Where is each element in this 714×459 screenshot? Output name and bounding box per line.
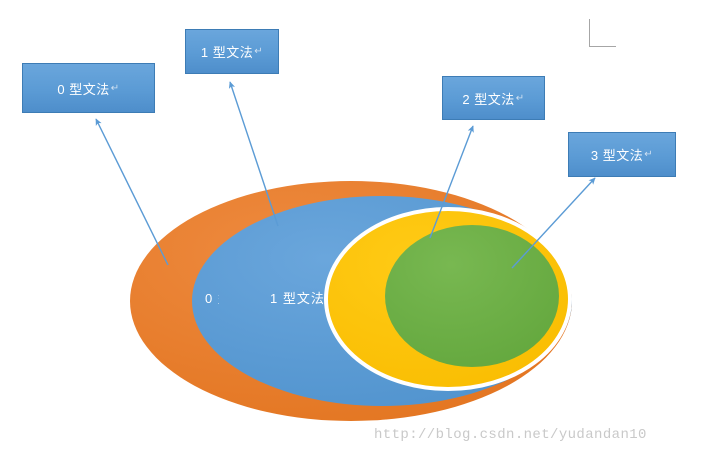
label-box-type-0[interactable]: 0 型文法↵ — [22, 63, 155, 113]
pilcrow-mark: ↵ — [111, 83, 120, 94]
watermark-url: http://blog.csdn.net/yudandan10 — [374, 427, 647, 443]
page-corner-mark — [589, 19, 616, 47]
label-box-type-1[interactable]: 1 型文法↵ — [185, 29, 279, 74]
label-box-type-1-text: 1 型文法 — [201, 42, 253, 61]
label-box-type-2-text: 2 型文法 — [462, 89, 514, 108]
pilcrow-mark: ↵ — [516, 93, 525, 104]
label-box-type-3-text: 3 型文法 — [591, 145, 643, 164]
label-box-type-0-text: 0 型文法 — [57, 79, 109, 98]
pilcrow-mark: ↵ — [254, 46, 263, 57]
arrow-to-type-0 — [96, 119, 168, 265]
pilcrow-mark: ↵ — [644, 149, 653, 160]
label-box-type-3[interactable]: 3 型文法↵ — [568, 132, 676, 177]
label-box-type-2[interactable]: 2 型文法↵ — [442, 76, 545, 120]
